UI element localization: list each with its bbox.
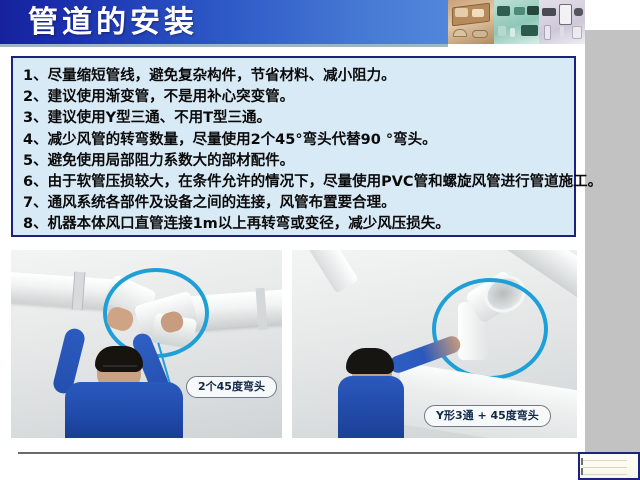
fan-shape (514, 7, 525, 15)
slide-canvas: 管道的安装 1、尽量缩短管线，避免复杂构件，节省材料、 (0, 0, 640, 480)
thermostat-shape (572, 26, 582, 39)
panel-shape (542, 8, 556, 16)
corner-note-panel (578, 452, 640, 480)
worker-hair (346, 348, 394, 374)
grille-shape (453, 29, 467, 37)
note-tick-2 (581, 468, 583, 475)
controller-screen-shape (559, 4, 572, 25)
guideline-item-6: 6、由于软管压损较大，在条件允许的情况下，尽量使用PVC管和螺旋风管进行管道施工… (23, 172, 568, 193)
guideline-item-2: 2、建议使用渐变管，不是用补心突变管。 (23, 87, 568, 108)
equipment-box-shape (497, 6, 510, 16)
guideline-item-8: 8、机器本体风口直管连接1m以上再转弯或变径，减少风压损失。 (23, 214, 568, 235)
note-rule-1 (583, 460, 627, 461)
guideline-item-7: 7、通风系统各部件及设备之间的连接，风管布置要合理。 (23, 193, 568, 214)
note-tick-1 (581, 458, 583, 465)
worker-torso (65, 382, 183, 438)
guideline-item-3: 3、建议使用Y型三通、不用T型三通。 (23, 108, 568, 129)
switch-shape (560, 26, 564, 37)
equipment-box-shape-2 (527, 6, 539, 15)
diffuser-shape (472, 30, 488, 38)
footer-divider (18, 452, 585, 454)
guideline-item-1: 1、尽量缩短管线，避免复杂构件，节省材料、减小阻力。 (23, 66, 568, 87)
photo-45-degree-elbows (11, 250, 282, 438)
worker-torso (338, 376, 404, 438)
worker-glasses (103, 365, 137, 374)
remote-shape (544, 25, 551, 40)
duct-panel-shape (455, 8, 468, 17)
caption-y-tee-and-elbow: Y形3通 + 45度弯头 (424, 405, 551, 427)
filter-shape (498, 26, 506, 36)
thumbnail-strip (448, 0, 585, 44)
ceiling-duct-unit-thumbnail (448, 0, 494, 44)
guideline-item-5: 5、避免使用局部阻力系数大的部材配件。 (23, 151, 568, 172)
title-underline (0, 44, 448, 47)
control-panel-thumbnail (539, 0, 585, 44)
guidelines-textbox: 1、尽量缩短管线，避免复杂构件，节省材料、减小阻力。 2、建议使用渐变管，不是用… (11, 56, 576, 237)
note-rule-3 (583, 474, 627, 475)
hvac-equipment-thumbnail (494, 0, 540, 44)
right-margin-strip (585, 30, 640, 452)
note-rule-2 (583, 467, 627, 468)
sensor-shape (574, 8, 583, 16)
air-handler-shape (521, 25, 538, 36)
annotation-circle (432, 278, 548, 380)
pipe-shape (510, 28, 515, 37)
page-title: 管道的安装 (28, 3, 198, 43)
caption-45-degree-elbows: 2个45度弯头 (186, 376, 277, 398)
guideline-item-4: 4、减少风管的转弯数量，尽量使用2个45°弯头代替90 °弯头。 (23, 130, 568, 151)
duct-panel-shape-2 (472, 9, 484, 17)
